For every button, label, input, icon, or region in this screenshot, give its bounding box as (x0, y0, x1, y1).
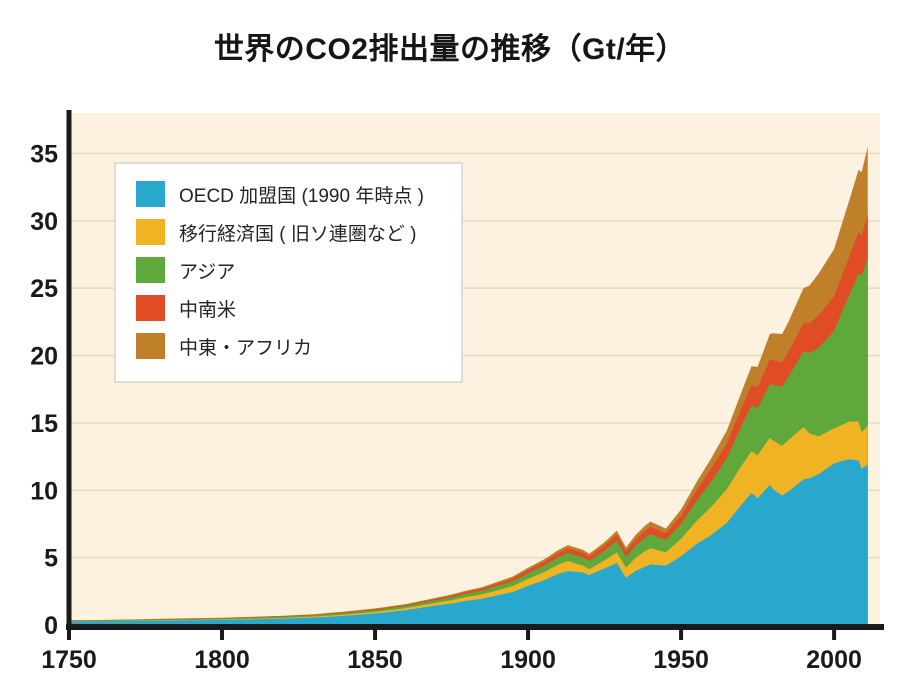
y-axis-tick-label: 10 (30, 477, 58, 505)
y-axis-tick-label: 30 (30, 208, 58, 236)
legend-label-asia[interactable]: アジア (179, 262, 235, 283)
x-axis-tick-label: 1800 (194, 646, 250, 674)
x-axis-tick-label: 1750 (41, 646, 97, 674)
y-axis-tick-labels: 05101520253035 (30, 140, 58, 640)
legend-swatch-transition (136, 219, 165, 245)
x-axis-tick-label: 1950 (653, 646, 709, 674)
legend-label-mea[interactable]: 中東・アフリカ (179, 337, 312, 359)
legend-label-transition[interactable]: 移行経済国 ( 旧ソ連圏など ) (179, 223, 417, 245)
x-axis-tick-label: 2000 (806, 646, 862, 674)
legend-swatch-asia (136, 257, 165, 283)
legend-label-latam[interactable]: 中南米 (179, 299, 236, 321)
y-axis-tick-label: 20 (30, 343, 58, 371)
x-axis-tick-labels: 175018001850190019502000 (41, 646, 862, 674)
y-axis-tick-label: 0 (44, 612, 58, 640)
legend-swatch-mea (136, 333, 165, 359)
y-axis-tick-label: 35 (30, 140, 58, 168)
y-axis-tick-label: 15 (30, 410, 58, 438)
x-axis-tick-label: 1900 (500, 646, 556, 674)
chart-page: 世界のCO2排出量の推移（Gt/年） 05101520253035 175018… (0, 0, 900, 680)
emissions-stacked-area-chart: 05101520253035 175018001850190019502000 … (0, 0, 900, 680)
legend-swatch-oecd (136, 181, 165, 207)
chart-legend[interactable]: OECD 加盟国 (1990 年時点 )移行経済国 ( 旧ソ連圏など )アジア中… (115, 163, 462, 382)
y-axis-tick-label: 5 (44, 545, 58, 573)
legend-label-oecd[interactable]: OECD 加盟国 (1990 年時点 ) (179, 185, 424, 207)
y-axis-tick-label: 25 (30, 275, 58, 303)
x-axis-tick-label: 1850 (347, 646, 403, 674)
legend-swatch-latam (136, 295, 165, 321)
